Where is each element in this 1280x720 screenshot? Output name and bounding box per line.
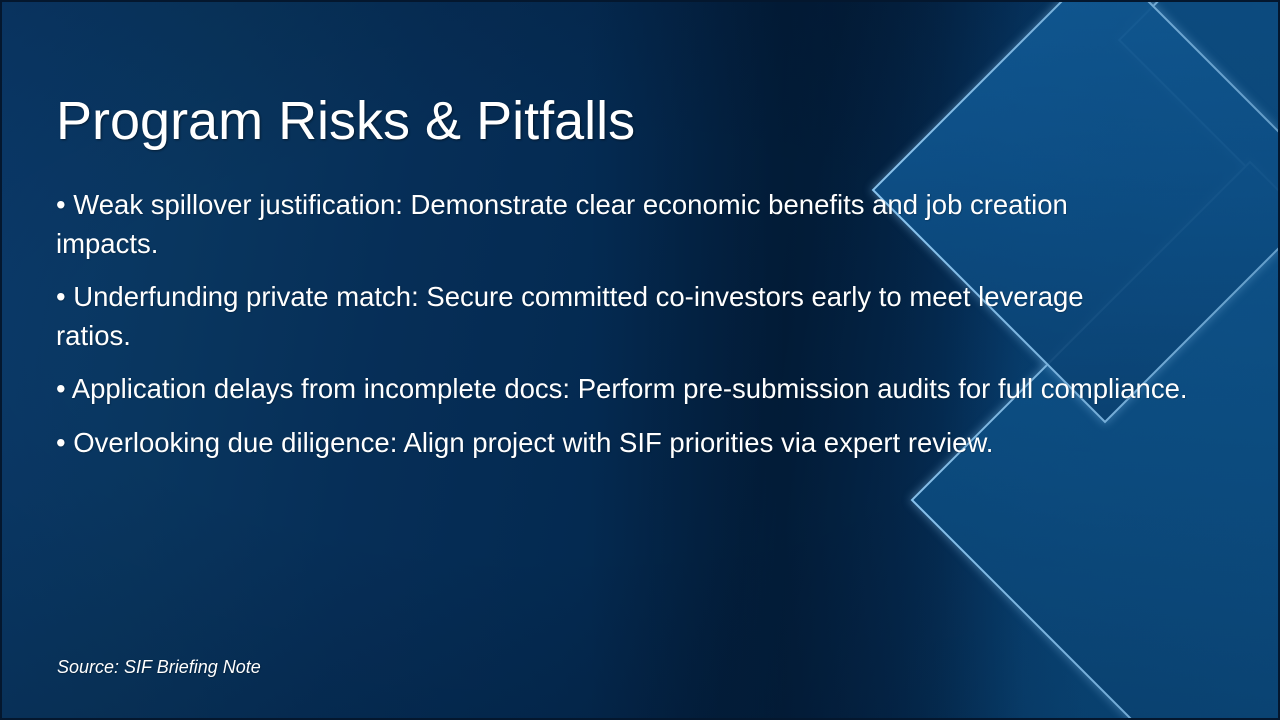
slide-content: Program Risks & Pitfalls • Weak spillove… [0, 0, 1280, 720]
bullet-list: • Weak spillover justification: Demonstr… [56, 186, 1216, 463]
source-citation: Source: SIF Briefing Note [57, 657, 261, 678]
list-item: • Underfunding private match: Secure com… [56, 278, 1136, 355]
list-item: • Application delays from incomplete doc… [56, 370, 1211, 409]
list-item: • Weak spillover justification: Demonstr… [56, 186, 1131, 263]
page-title: Program Risks & Pitfalls [56, 93, 635, 150]
list-item: • Overlooking due diligence: Align proje… [56, 424, 1211, 463]
presentation-slide: Program Risks & Pitfalls • Weak spillove… [0, 0, 1280, 720]
